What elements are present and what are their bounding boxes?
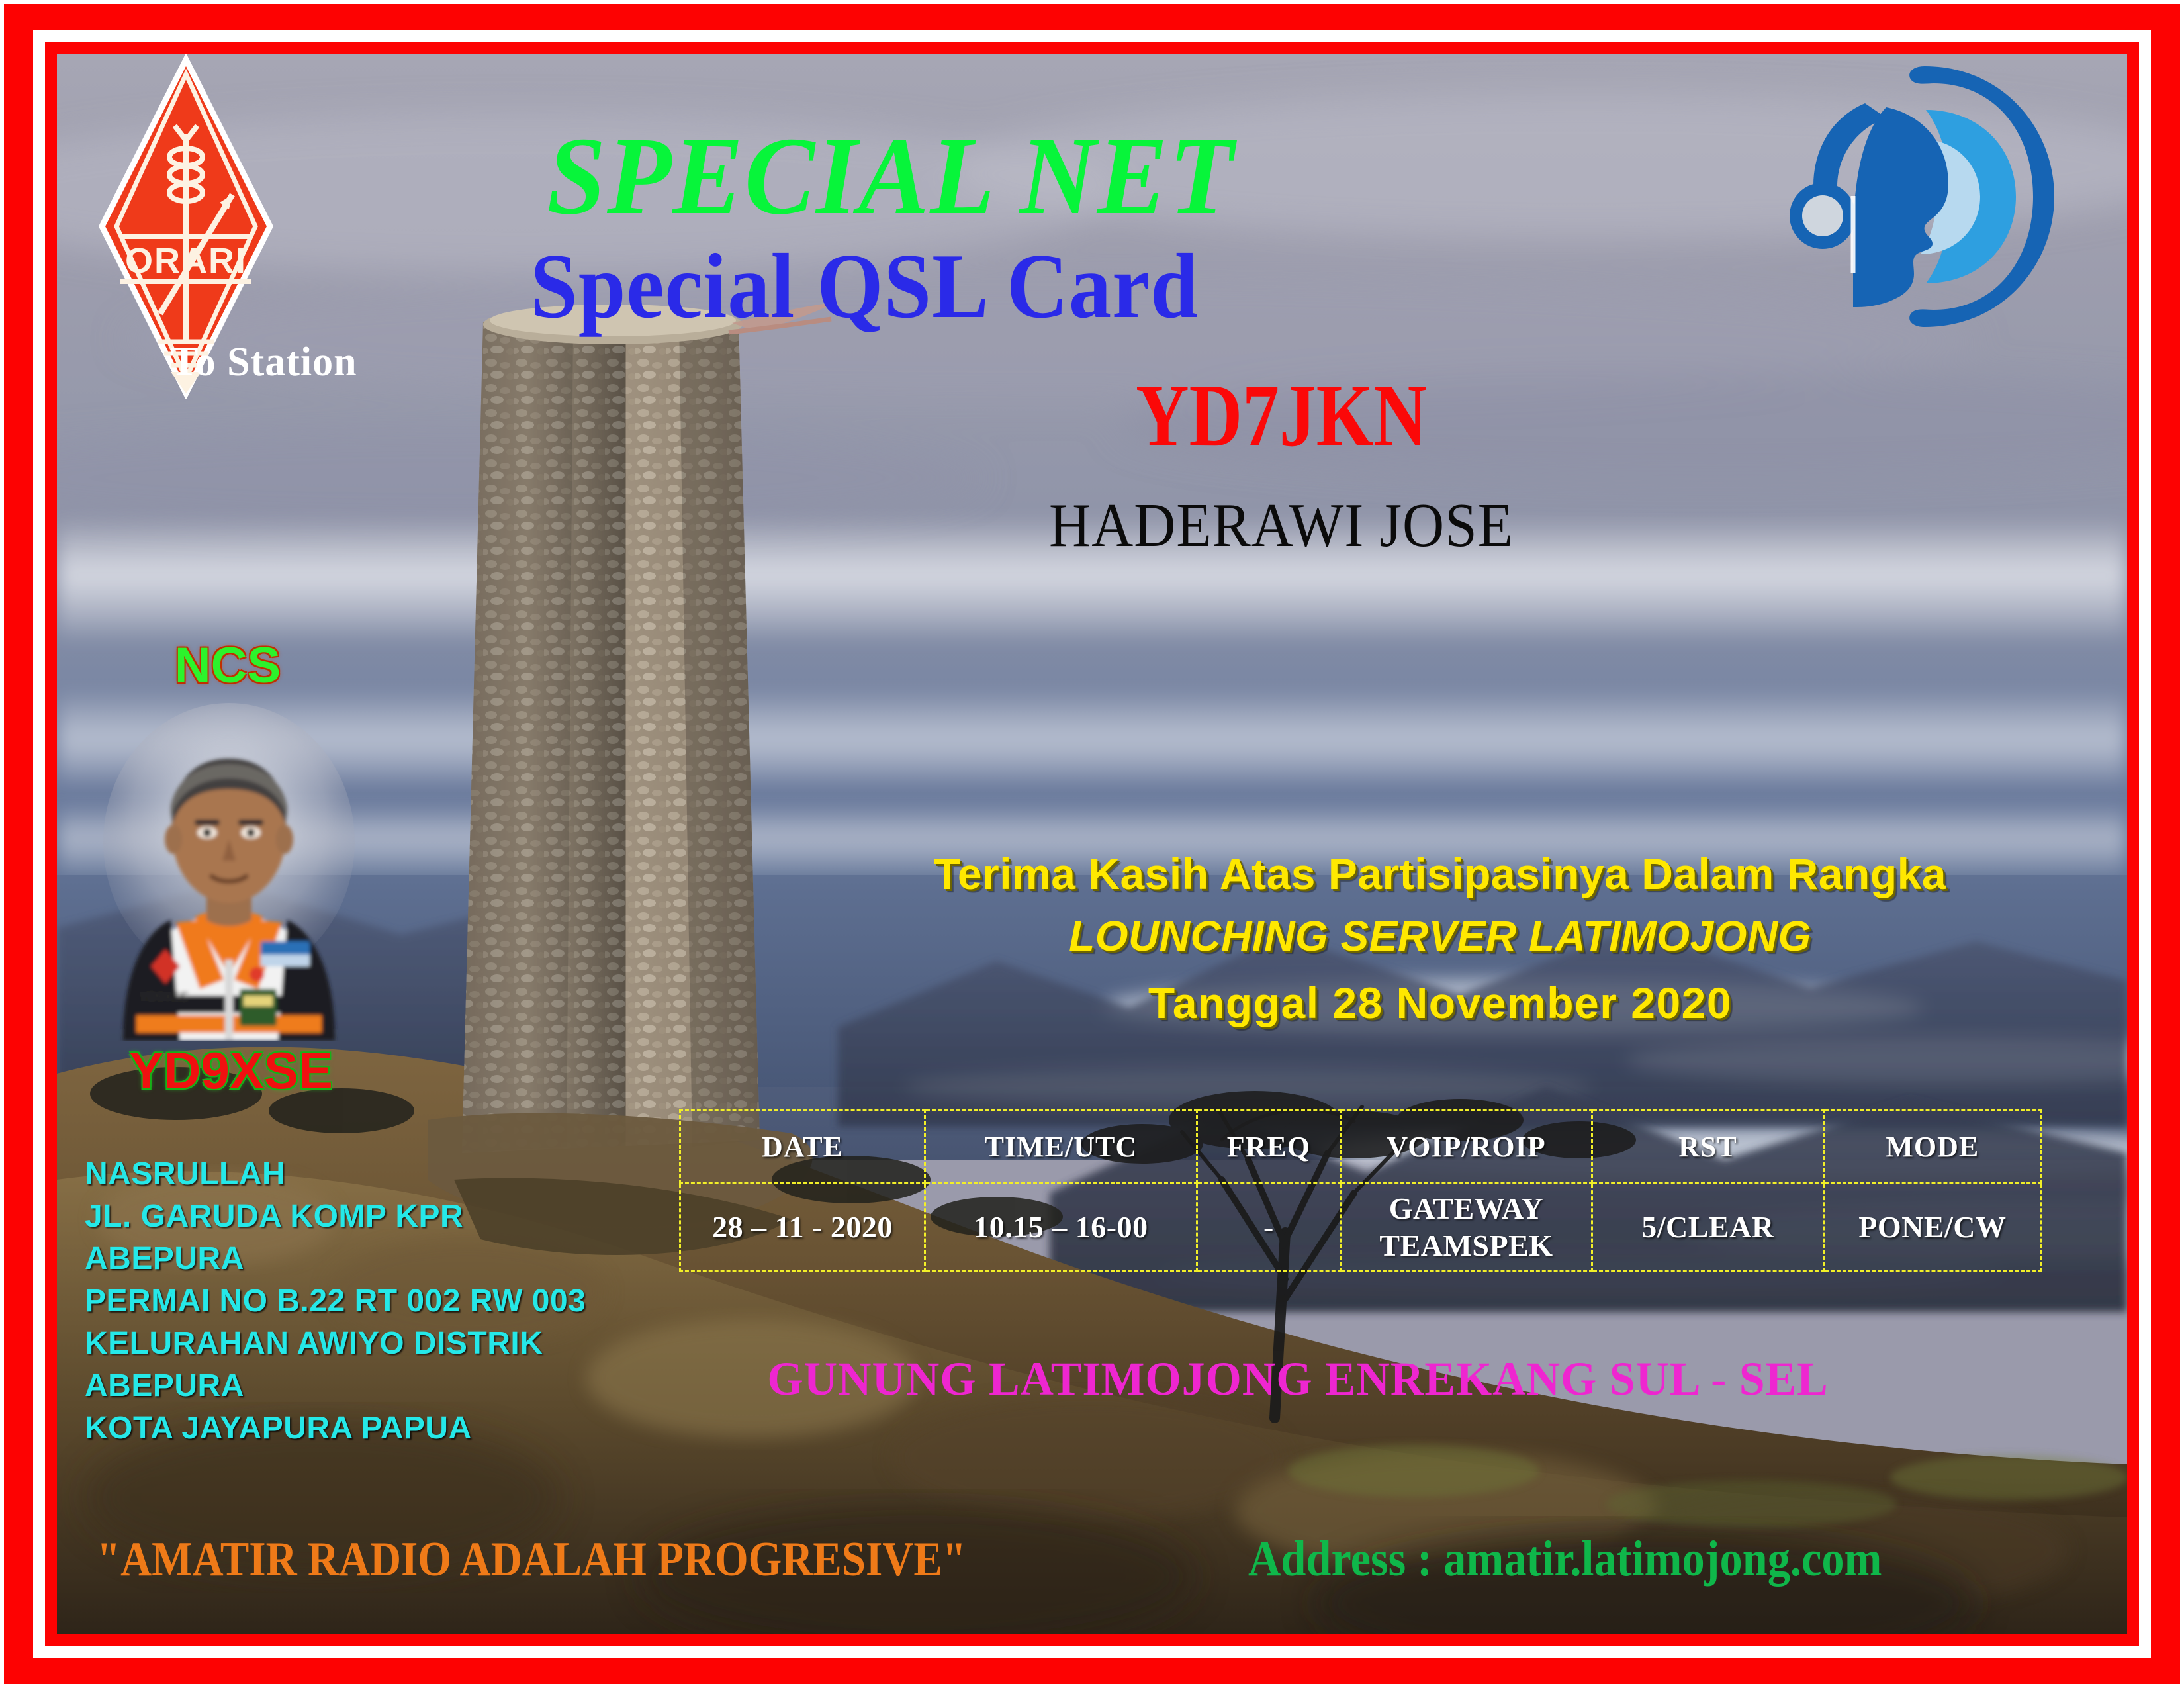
qso-details-table: DATE TIME/UTC FREQ VOIP/ROIP RST MODE 28… <box>679 1109 2042 1272</box>
address-line: KELURAHAN AWIYO DISTRIK <box>85 1323 586 1365</box>
to-station-label: To Station <box>171 339 357 386</box>
page-title: SPECIAL NET <box>99 113 1683 240</box>
svg-text:YD9XSE: YD9XSE <box>140 990 189 1004</box>
column-header-time: TIME/UTC <box>925 1110 1197 1184</box>
cell-voip-roip-line2: TEAMSPEK <box>1342 1227 1591 1264</box>
thanks-line-3: Tanggal 28 November 2020 <box>785 978 2095 1028</box>
table-header-row: DATE TIME/UTC FREQ VOIP/ROIP RST MODE <box>680 1110 2042 1184</box>
column-header-freq: FREQ <box>1197 1110 1340 1184</box>
column-header-voip-roip: VOIP/ROIP <box>1340 1110 1592 1184</box>
cell-voip-roip-line1: GATEWAY <box>1342 1190 1591 1227</box>
cell-mode: PONE/CW <box>1823 1184 2041 1272</box>
station-callsign: YD7JKN <box>961 364 1602 467</box>
ncs-operator-photo: YD9XSE <box>83 690 375 1041</box>
table-row: 28 – 11 - 2020 10.15 – 16-00 - GATEWAY T… <box>680 1184 2042 1272</box>
address-line: NASRULLAH <box>85 1153 586 1196</box>
ncs-label: NCS <box>142 637 314 694</box>
headphone-face-waves-icon <box>1784 54 2062 339</box>
column-header-mode: MODE <box>1823 1110 2041 1184</box>
cell-time: 10.15 – 16-00 <box>925 1184 1197 1272</box>
address-line: ABEPURA <box>85 1365 586 1407</box>
net-headphone-logo <box>1784 54 2062 339</box>
ncs-callsign: YD9XSE <box>89 1041 373 1101</box>
cell-rst: 5/CLEAR <box>1592 1184 1824 1272</box>
address-line: KOTA JAYAPURA PAPUA <box>85 1407 586 1450</box>
thanks-line-1: Terima Kasih Atas Partisipasinya Dalam R… <box>785 849 2095 899</box>
address-line: ABEPURA <box>85 1238 586 1280</box>
location-caption: GUNUNG LATIMOJONG ENREKANG SUL - SEL <box>672 1352 1924 1407</box>
qsl-card: ORARI <box>0 0 2184 1688</box>
cell-freq: - <box>1197 1184 1340 1272</box>
thanks-line-2: LOUNCHING SERVER LATIMOJONG <box>785 912 2095 961</box>
column-header-date: DATE <box>680 1110 925 1184</box>
sender-address-block: NASRULLAH JL. GARUDA KOMP KPR ABEPURA PE… <box>85 1153 586 1450</box>
column-header-rst: RST <box>1592 1110 1824 1184</box>
address-line: PERMAI NO B.22 RT 002 RW 003 <box>85 1280 586 1323</box>
operator-name: HADERAWI JOSE <box>893 490 1669 561</box>
cell-date: 28 – 11 - 2020 <box>680 1184 925 1272</box>
footer-slogan: "AMATIR RADIO ADALAH PROGRESIVE" <box>97 1532 966 1588</box>
operator-portrait: YD9XSE <box>83 690 375 1041</box>
footer-address: Address : amatir.latimojong.com <box>1248 1530 1882 1588</box>
cell-voip-roip: GATEWAY TEAMSPEK <box>1340 1184 1592 1272</box>
page-subtitle: Special QSL Card <box>122 233 1608 340</box>
address-line: JL. GARUDA KOMP KPR <box>85 1196 586 1238</box>
